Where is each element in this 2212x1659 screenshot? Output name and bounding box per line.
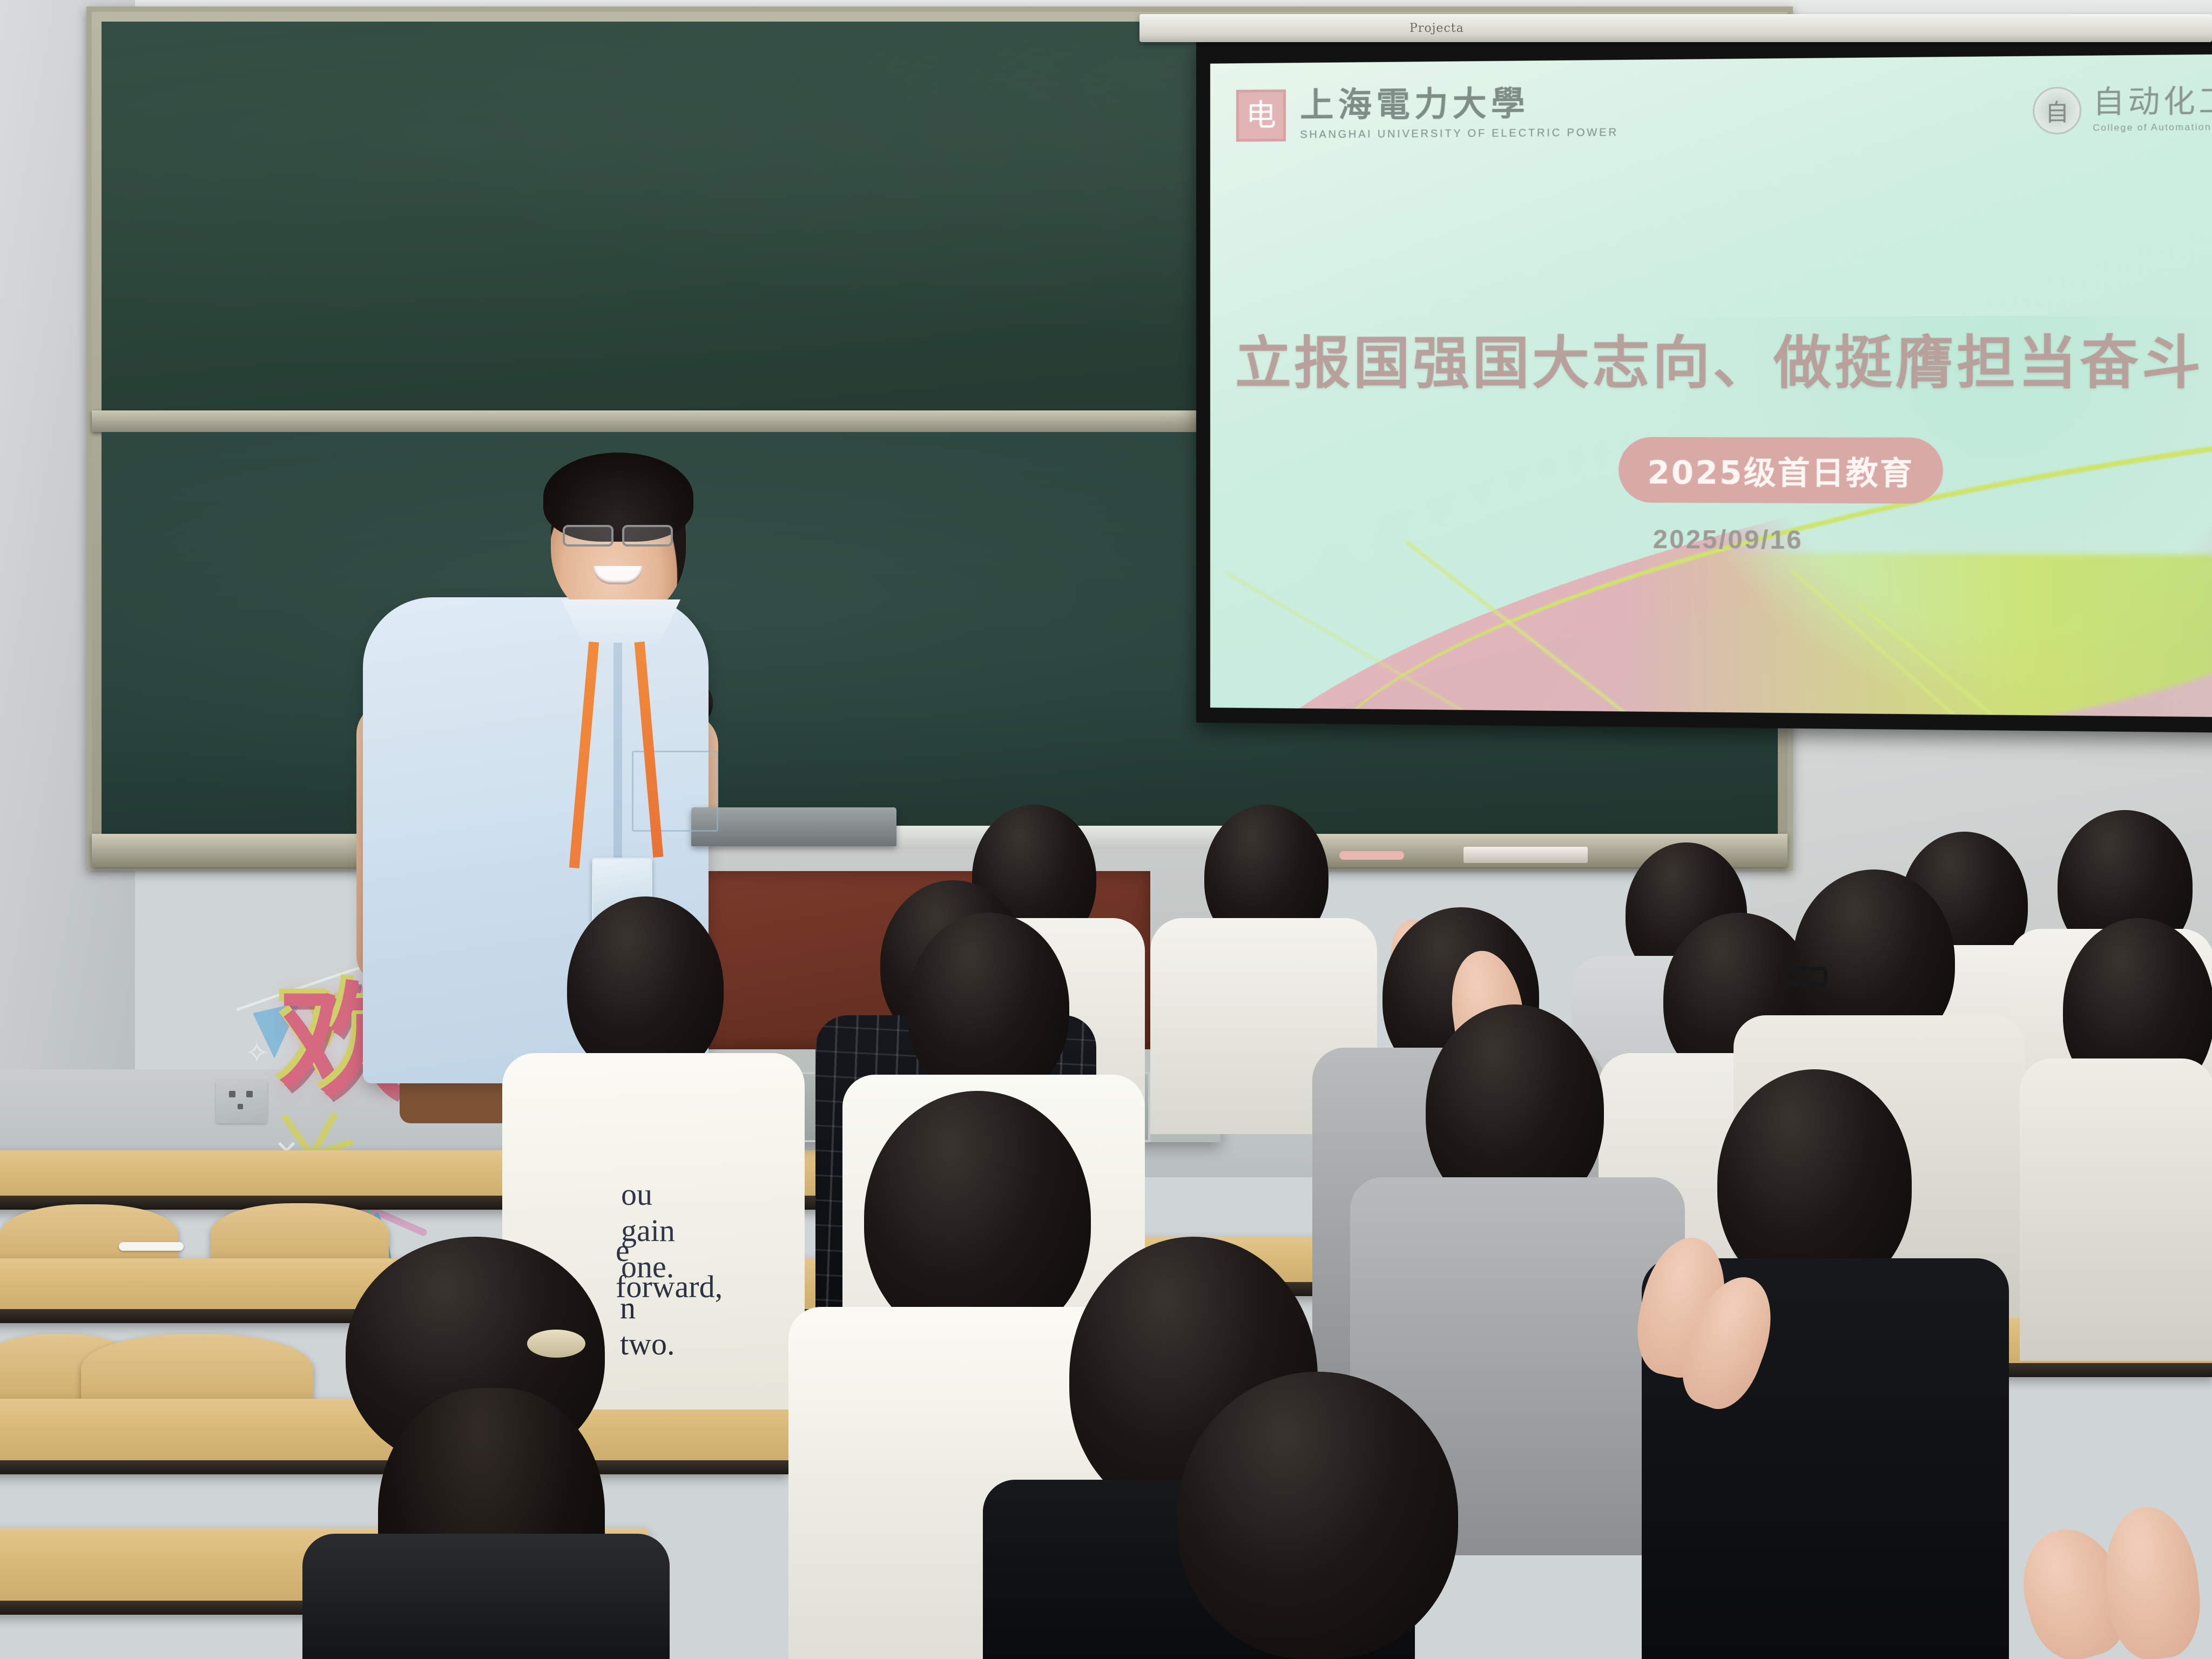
college-logo: 自 自动化工程 College of Automation Eng — [2033, 85, 2212, 135]
projection-screen: 电 上海電力大學 SHANGHAI UNIVERSITY OF ELECTRIC… — [1196, 32, 2212, 733]
folding-seat[interactable] — [81, 1334, 313, 1410]
college-name-cn: 自动化工程 — [2093, 86, 2212, 118]
college-seal-icon: 自 — [2033, 86, 2081, 134]
glasses-icon — [622, 525, 673, 547]
university-name-en: SHANGHAI UNIVERSITY OF ELECTRIC POWER — [1300, 126, 1618, 141]
university-seal-icon: 电 — [1236, 89, 1286, 141]
hair-tie — [527, 1330, 585, 1358]
slide-title: 立报国强国大志向、做挺膺担当奋斗 — [1235, 316, 2204, 400]
laptop[interactable] — [691, 807, 896, 846]
sparkle-star-icon: ✧ — [245, 1036, 269, 1070]
shirt-text-line-3: n two. — [620, 1290, 675, 1362]
slide-badge: 2025级首日教育 — [1618, 437, 1943, 504]
pen[interactable] — [119, 1242, 184, 1251]
presentation-slide: 电 上海電力大學 SHANGHAI UNIVERSITY OF ELECTRIC… — [1210, 54, 2212, 717]
university-name-cn: 上海電力大學 — [1300, 86, 1618, 122]
chalk-stick[interactable] — [1339, 851, 1404, 860]
blackboard-eraser[interactable] — [1464, 847, 1588, 863]
slide-date: 2025/09/16 — [1653, 524, 1803, 555]
college-name-en: College of Automation Eng — [2093, 122, 2212, 134]
projection-screen-roller: Projecta — [1139, 14, 2212, 42]
glasses-icon — [1788, 967, 1827, 986]
classroom-photo: 欢 迎 新 同 学 ✧ ✦ ✧ ✦ ✧ ✕ — [0, 0, 2212, 1659]
glasses-icon — [563, 525, 613, 547]
screen-brand-label: Projecta — [1410, 22, 1464, 35]
university-logo: 电 上海電力大學 SHANGHAI UNIVERSITY OF ELECTRIC… — [1236, 86, 1618, 141]
